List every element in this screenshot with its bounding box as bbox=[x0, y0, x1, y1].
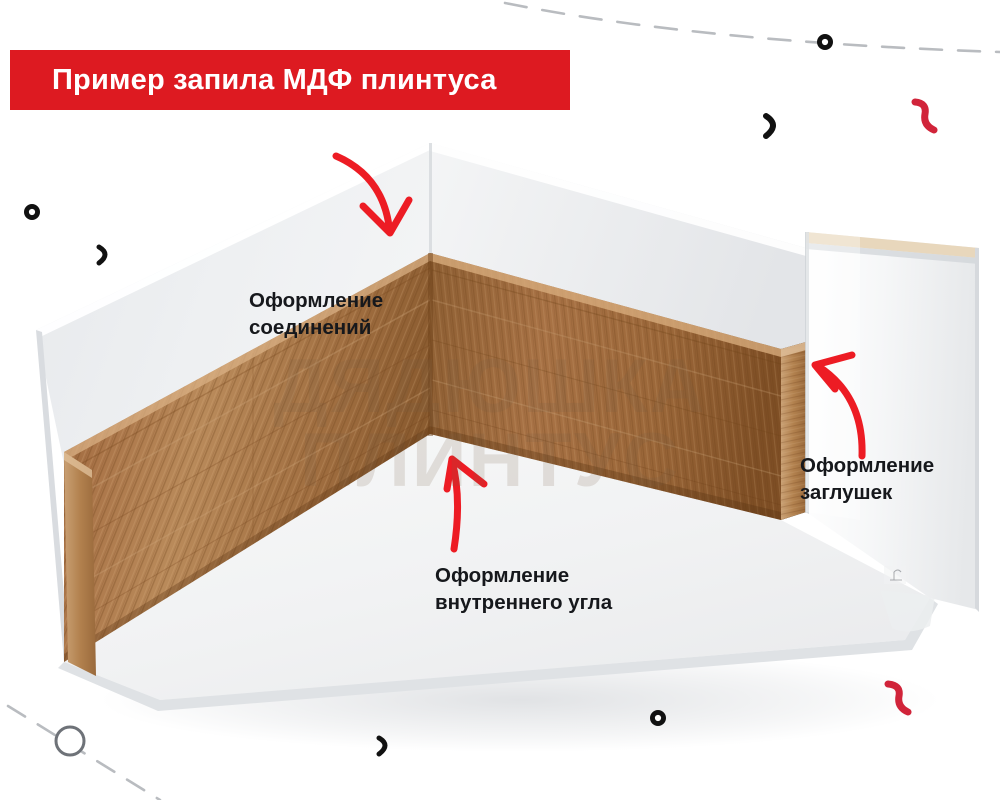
baseboard-miter-seam bbox=[428, 253, 433, 436]
title-banner: Пример запила МДФ плинтуса bbox=[10, 50, 570, 110]
callout-label-inner-corner: Оформление внутреннего угла bbox=[435, 562, 612, 616]
poster-canvas: ДЯДЮШКА ПЛИНТУС Пример запила МДФ плинту… bbox=[0, 0, 1000, 800]
product-photo bbox=[0, 0, 1000, 800]
callout-label-end-caps: Оформление заглушек bbox=[800, 452, 934, 506]
page-title: Пример запила МДФ плинтуса bbox=[52, 64, 497, 97]
baseboard-left-end-cut bbox=[64, 452, 96, 676]
floor-print-mark bbox=[884, 566, 906, 584]
callout-label-joints: Оформление соединений bbox=[249, 287, 383, 341]
wall-inner-corner-seam bbox=[429, 143, 432, 270]
